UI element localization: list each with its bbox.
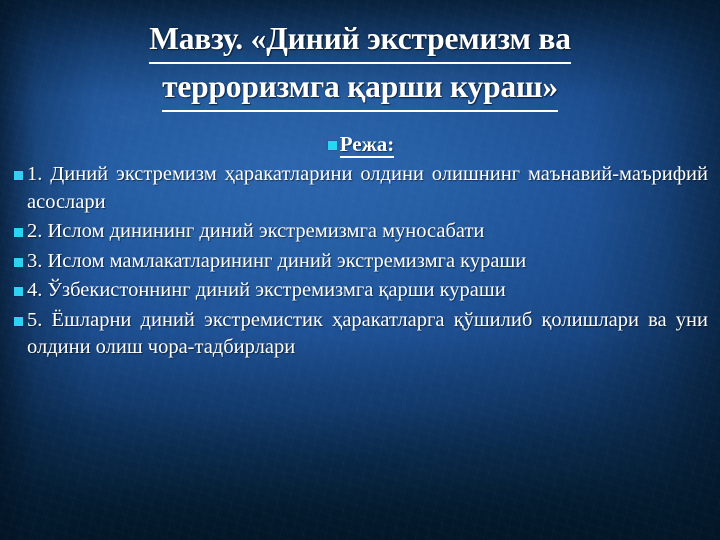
list-item: 2. Ислом динининг диний экстремизмга мун…	[14, 218, 708, 246]
list-item: 1. Диний экстремизм ҳаракатларини олдини…	[14, 161, 708, 216]
square-bullet-icon	[328, 141, 337, 150]
list-item: 5. Ёшларни диний экстремистик ҳаракатлар…	[14, 307, 708, 362]
plan-heading-label: Режа:	[340, 132, 395, 158]
slide-body: Режа: 1. Диний экстремизм ҳаракатларини …	[14, 132, 708, 364]
slide-content: Мавзу. «Диний экстремизм ва терроризмга …	[0, 0, 720, 540]
square-bullet-icon	[14, 258, 23, 267]
presentation-slide: Мавзу. «Диний экстремизм ва терроризмга …	[0, 0, 720, 540]
list-item-text: 4. Ўзбекистоннинг диний экстремизмга қар…	[27, 277, 708, 305]
plan-heading-row: Режа:	[14, 132, 708, 157]
slide-title-line-2: терроризмга қарши кураш»	[36, 64, 684, 112]
list-item-text: 1. Диний экстремизм ҳаракатларини олдини…	[27, 161, 708, 216]
slide-title: Мавзу. «Диний экстремизм ва терроризмга …	[36, 16, 684, 112]
list-item-text: 5. Ёшларни диний экстремистик ҳаракатлар…	[27, 307, 708, 362]
square-bullet-icon	[14, 317, 23, 326]
slide-title-line-1: Мавзу. «Диний экстремизм ва	[36, 16, 684, 64]
list-item: 3. Ислом мамлакатларининг диний экстреми…	[14, 248, 708, 276]
list-item-text: 2. Ислом динининг диний экстремизмга мун…	[27, 218, 708, 246]
plan-heading-group: Режа:	[328, 132, 395, 157]
square-bullet-icon	[14, 171, 23, 180]
square-bullet-icon	[14, 228, 23, 237]
slide-title-line-2-text: терроризмга қарши кураш»	[162, 64, 558, 112]
list-item-text: 3. Ислом мамлакатларининг диний экстреми…	[27, 248, 708, 276]
square-bullet-icon	[14, 287, 23, 296]
list-item: 4. Ўзбекистоннинг диний экстремизмга қар…	[14, 277, 708, 305]
slide-title-line-1-text: Мавзу. «Диний экстремизм ва	[149, 16, 571, 64]
